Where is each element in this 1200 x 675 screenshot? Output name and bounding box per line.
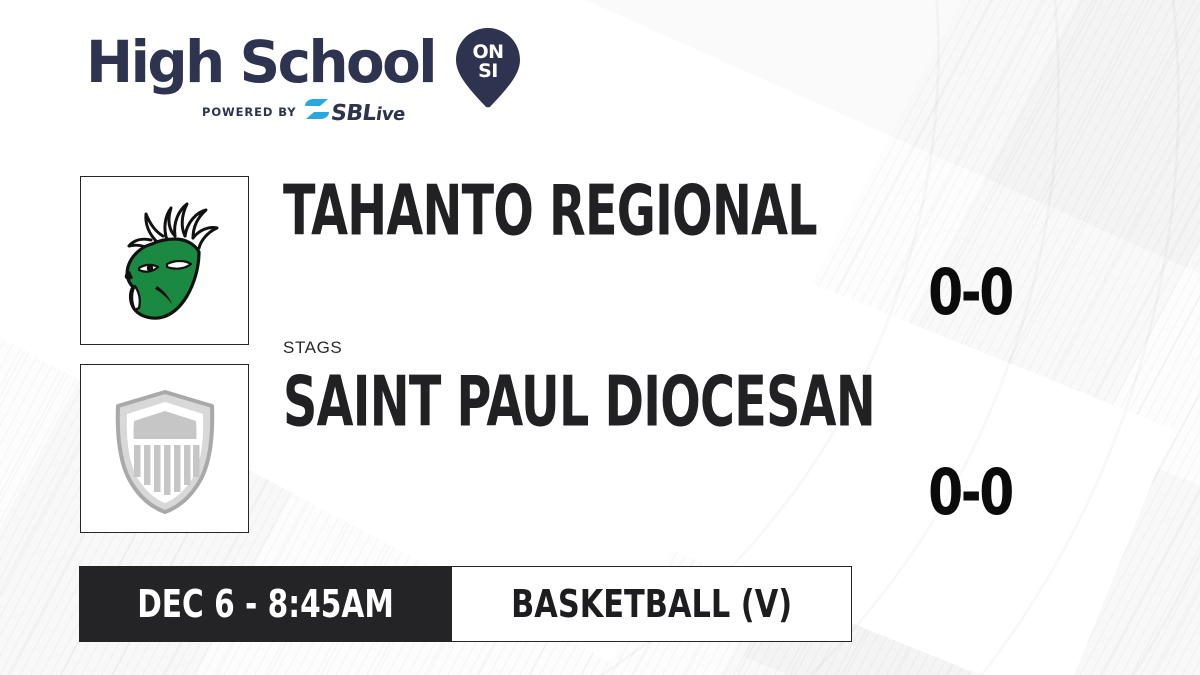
stag-head-logo-icon [105,196,225,326]
sblive-name: SBL [330,101,378,126]
team2-record: 0-0 [890,461,1050,524]
shield-placeholder-logo-icon [104,384,226,514]
team1-mascot: STAGS [283,338,342,358]
sblive-logo: SBL ive [304,98,405,126]
brand-title: High School [86,33,435,91]
sblive-s-mark-icon [304,98,330,120]
team2-logo-box [80,364,249,533]
brand-title-row: High School ON SI [86,30,506,94]
powered-by-label: POWERED BY [202,105,296,119]
event-datetime-label: DEC 6 - 8:45AM [137,585,394,623]
svg-text:SI: SI [478,60,498,82]
event-sport-label: BASKETBALL (V) [511,585,792,623]
event-datetime-block: DEC 6 - 8:45AM [79,566,452,642]
event-sport-block: BASKETBALL (V) [452,566,852,642]
team1-record: 0-0 [890,261,1050,324]
team1-logo-box [80,176,249,345]
team1-name: TAHANTO REGIONAL [283,177,817,246]
onsi-pin-icon: ON SI [456,30,520,94]
sblive-name-suffix: ive [375,104,407,125]
event-info-bar: DEC 6 - 8:45AM BASKETBALL (V) [79,566,852,642]
powered-by-row: POWERED BY SBL ive [86,98,506,126]
brand-header: High School ON SI POWERED BY SBL ive [86,30,506,126]
team2-name: SAINT PAUL DIOCESAN [283,368,875,437]
